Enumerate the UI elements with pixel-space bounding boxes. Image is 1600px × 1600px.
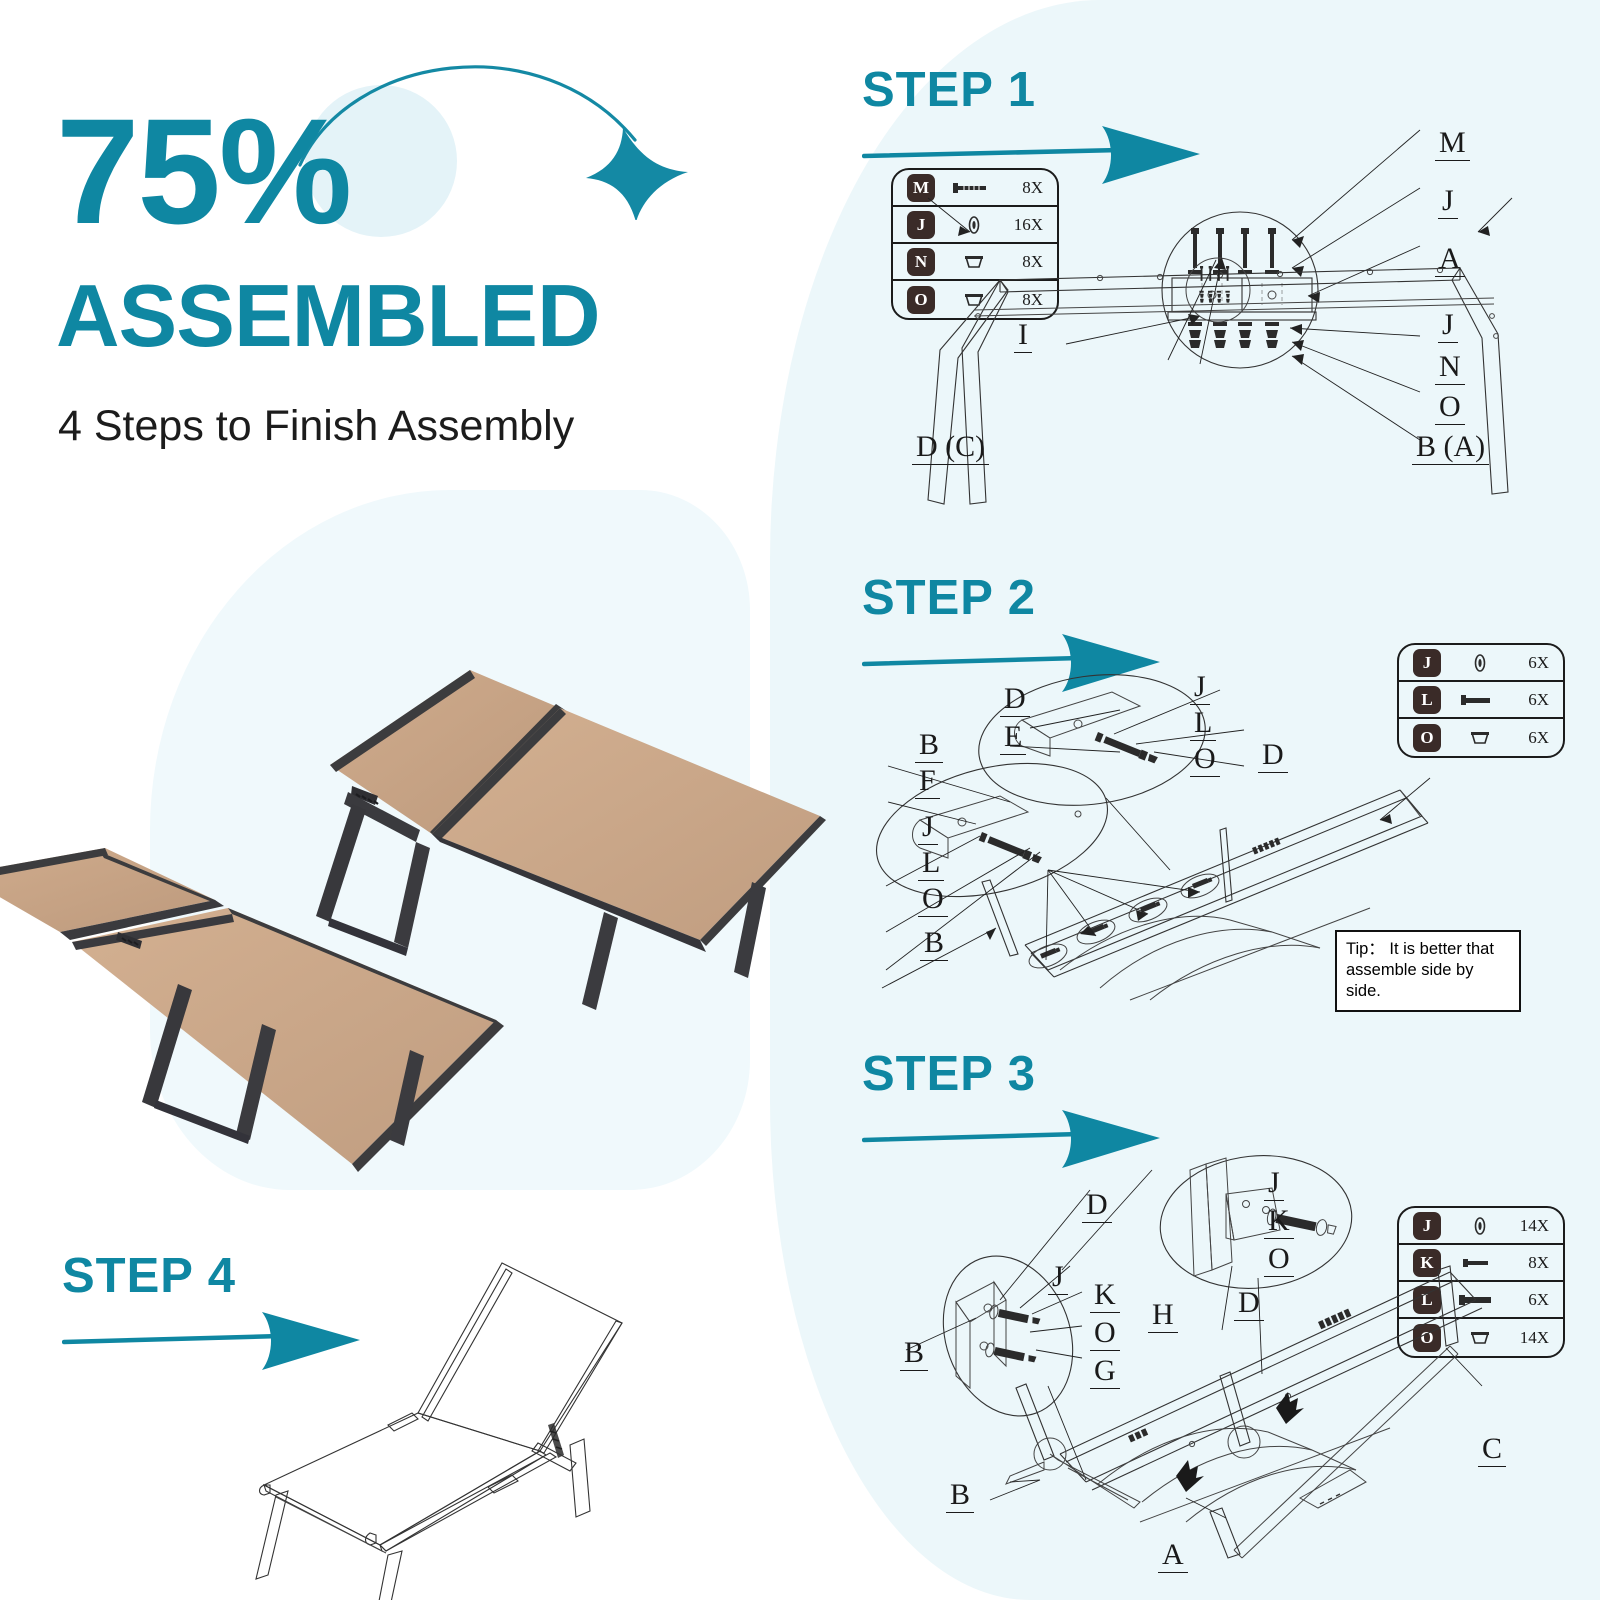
- step-3-diagram: [890, 1150, 1510, 1590]
- callout-step2-f: F: [915, 766, 940, 799]
- part-qty: 14X: [1520, 1328, 1549, 1348]
- step-2-left-detail: [863, 741, 1200, 960]
- callout-step3-o-left: O: [1090, 1318, 1120, 1351]
- callout-step3-frame-b: B: [946, 1480, 974, 1513]
- hero-subtitle: 4 Steps to Finish Assembly: [58, 405, 574, 448]
- step-1-diagram: [900, 120, 1590, 550]
- callout-step2-d-right: D: [1258, 740, 1288, 773]
- callout-step1-n: N: [1435, 352, 1465, 385]
- callout-step3-j-right: J: [1264, 1168, 1284, 1201]
- callout-step2-l-left: L: [918, 848, 944, 881]
- callout-step3-k-right: K: [1264, 1206, 1294, 1239]
- callout-step2-d-top: D: [1000, 684, 1030, 717]
- part-qty: 14X: [1520, 1216, 1549, 1236]
- callout-step2-o-topright: O: [1190, 744, 1220, 777]
- callout-step3-frame-a: A: [1158, 1540, 1188, 1573]
- callout-step3-h: H: [1148, 1300, 1178, 1333]
- callout-step1-i: I: [1014, 320, 1032, 353]
- step-3-left-detail: [922, 1238, 1095, 1480]
- step-2-frame: [982, 790, 1428, 1000]
- part-qty: 6X: [1528, 1290, 1549, 1310]
- curved-arrow-icon: [290, 20, 710, 220]
- callout-step3-d-top: D: [1082, 1190, 1112, 1223]
- callout-step1-j-top: J: [1438, 186, 1458, 219]
- callout-step3-o-right: O: [1264, 1244, 1294, 1277]
- callout-step2-l-topright: L: [1190, 708, 1216, 741]
- callout-step3-d-right: D: [1234, 1288, 1264, 1321]
- assembly-instruction-page: 75% ASSEMBLED 4 Steps to Finish Assembly: [0, 0, 1600, 1600]
- callout-step2-o-left: O: [918, 884, 948, 917]
- chaise-flat: [0, 848, 504, 1172]
- callout-step3-frame-c: C: [1478, 1434, 1506, 1467]
- callout-step1-j-right: J: [1438, 310, 1458, 343]
- callout-step2-b-bottom: B: [920, 928, 948, 961]
- percent-headline: 75%: [56, 96, 350, 246]
- callout-step1-a: A: [1435, 244, 1465, 277]
- product-photo-two-chaise-lounges: [0, 580, 820, 1140]
- callout-step1-frame-left: D (C): [912, 432, 989, 465]
- part-qty: 6X: [1528, 653, 1549, 673]
- part-qty: 6X: [1528, 690, 1549, 710]
- part-qty: 8X: [1528, 1253, 1549, 1273]
- chaise-reclined: [316, 670, 826, 1010]
- callout-step1-frame-right: B (A): [1412, 432, 1489, 465]
- step-4-finished-chair: [240, 1245, 670, 1590]
- washer-icon: [1453, 654, 1507, 672]
- callout-step3-j-left: J: [1048, 1262, 1068, 1295]
- callout-step1-o: O: [1435, 392, 1465, 425]
- assembled-headline: ASSEMBLED: [56, 272, 600, 360]
- callout-step1-m: M: [1435, 128, 1470, 161]
- callout-step2-e: E: [1000, 722, 1026, 755]
- callout-step3-k-left: K: [1090, 1280, 1120, 1313]
- callout-step3-b-left: B: [900, 1338, 928, 1371]
- callout-step2-j-topright: J: [1190, 672, 1210, 705]
- callout-step2-j-left: J: [918, 812, 938, 845]
- callout-step3-g-left: G: [1090, 1356, 1120, 1389]
- callout-step2-b-left: B: [915, 730, 943, 763]
- part-qty: 6X: [1528, 728, 1549, 748]
- step-3-frame: [990, 1170, 1482, 1558]
